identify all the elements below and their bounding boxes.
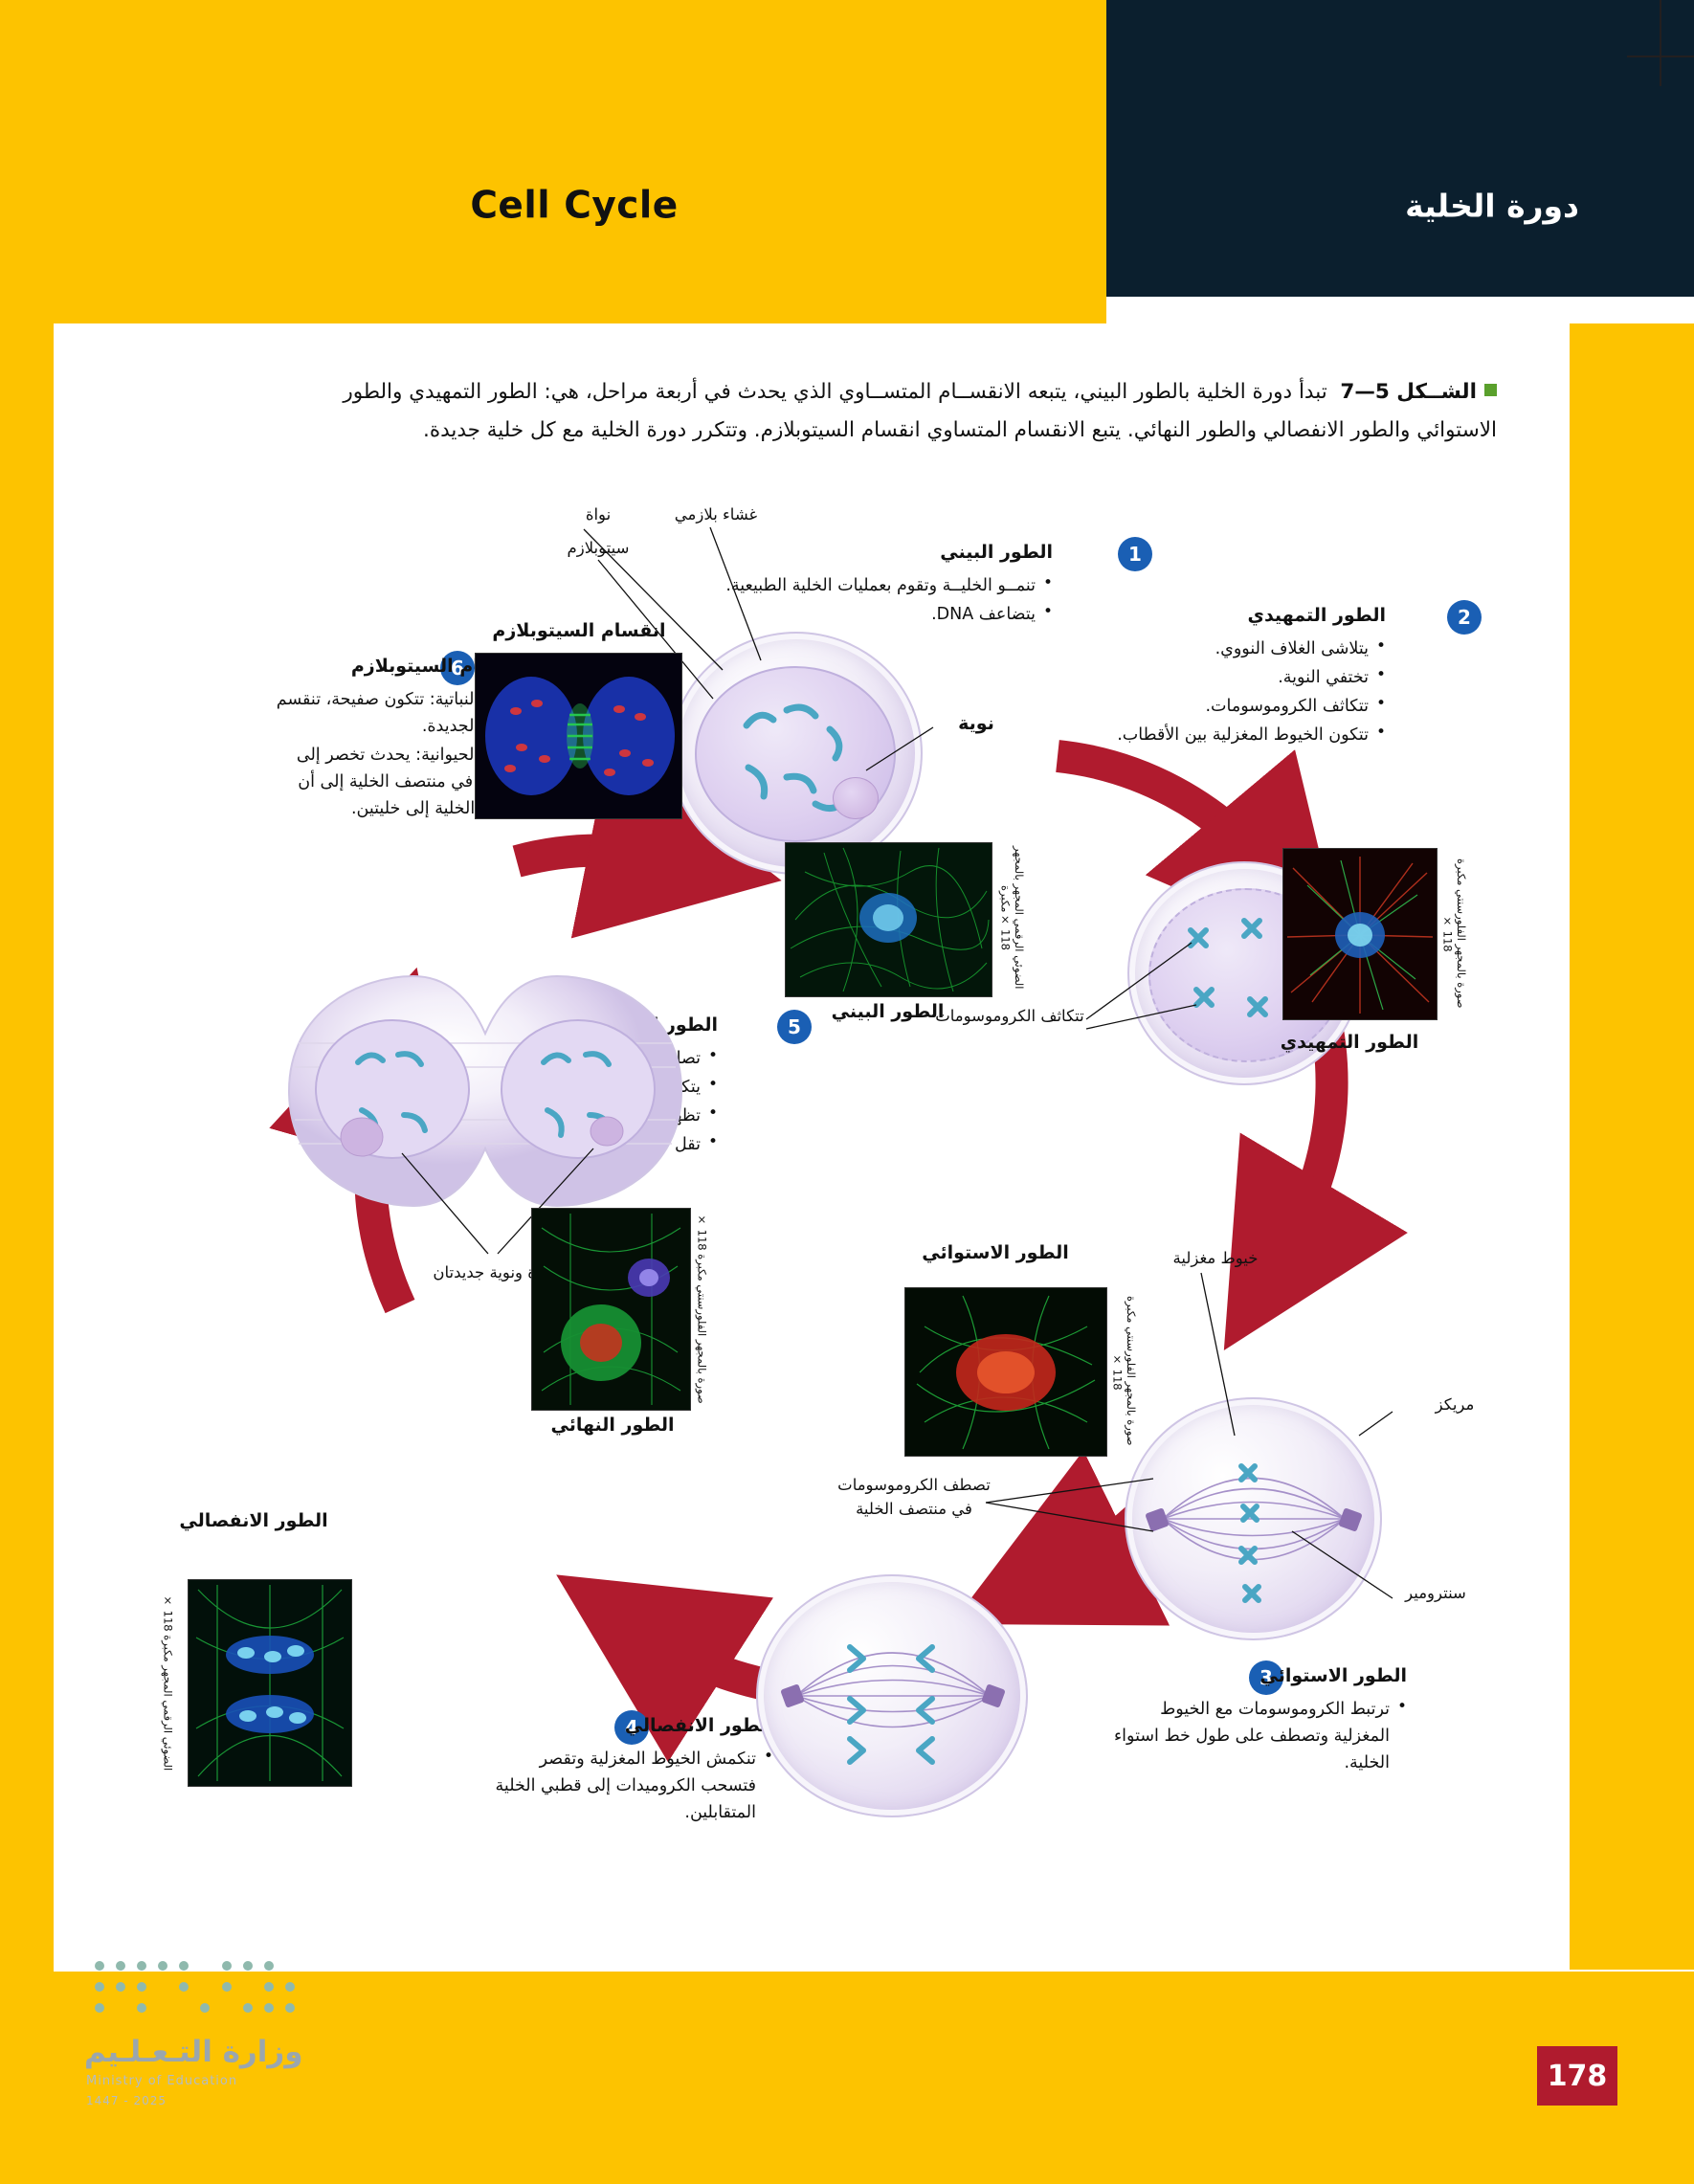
figure-caption-text: تبدأ دورة الخلية بالطور البيني، يتبعه ال… bbox=[343, 380, 1497, 442]
stage-badge-2[interactable]: 2 bbox=[1447, 600, 1482, 635]
micrograph-prophase bbox=[1282, 848, 1438, 1020]
figure-caption-label: الشــكل 5—7 bbox=[1340, 380, 1477, 404]
stage-title-1: الطور البيني bbox=[833, 538, 1053, 567]
stage-bullets-4: تنكمش الخيوط المغزلية وتقصر فتسحب الكروم… bbox=[486, 1746, 773, 1828]
list-item: تتكاثف الكروموسومات. bbox=[1070, 693, 1386, 720]
micrograph-title-cytokinesis: انقسام السيتوبلازم bbox=[459, 620, 699, 641]
stage-title-3: الطور الاستوائي bbox=[1187, 1661, 1407, 1690]
stage-badge-1[interactable]: 1 bbox=[1118, 537, 1152, 571]
micrograph-interphase bbox=[785, 842, 992, 997]
ministry-year: 2025 - 1447 bbox=[86, 2094, 167, 2107]
micrograph-caption-prophase: صورة بالمجهر الفلورسنتي مكبرة 118 × bbox=[1440, 848, 1468, 1018]
micrograph-caption-metaphase: صورة بالمجهر الفلورسنتي مكبرة 118 × bbox=[1110, 1287, 1138, 1455]
cell-telophase bbox=[270, 967, 701, 1215]
list-item: ترتبط الكروموسومات مع الخيوط المغزلية وت… bbox=[1101, 1696, 1407, 1776]
spindle-metaphase bbox=[1126, 1399, 1380, 1638]
caption-text: صورة بالمجهر الفلورسنتي مكبرة 118 × bbox=[695, 1213, 708, 1404]
callout-centriole: مريكز bbox=[1397, 1395, 1512, 1414]
list-item: تنمــو الخليــة وتقوم بعمليات الخلية الط… bbox=[680, 572, 1053, 599]
micrograph-anaphase bbox=[188, 1579, 352, 1787]
cell-anaphase bbox=[756, 1574, 1028, 1817]
caption-text: صورة بالمجهر الفلورسنتي مكبرة 118 × bbox=[1440, 858, 1467, 1009]
micrograph-title-metaphase: الطور الاستوائي bbox=[880, 1242, 1110, 1263]
ministry-name-arabic: وزارة التـعـلـيم bbox=[84, 2035, 303, 2069]
page-left-bar bbox=[0, 0, 54, 2184]
spindle-anaphase bbox=[758, 1576, 1026, 1816]
list-item: تنكمش الخيوط المغزلية وتقصر فتسحب الكروم… bbox=[486, 1746, 773, 1826]
callout-align-mid: تصطف الكروموسومات في منتصف الخلية bbox=[833, 1474, 995, 1522]
ministry-name-english: Ministry of Education bbox=[86, 2074, 237, 2088]
micrograph-title-anaphase: الطور الانفصالي bbox=[134, 1510, 373, 1531]
cell-metaphase bbox=[1125, 1397, 1382, 1640]
crop-mark-horizontal bbox=[1627, 56, 1694, 57]
nucleolus-interphase bbox=[833, 777, 879, 819]
stage-title-2: الطور التمهيدي bbox=[1185, 601, 1386, 630]
list-item: تختفي النوية. bbox=[1070, 664, 1386, 691]
ministry-logo-dots bbox=[88, 1954, 308, 2021]
stage-badge-5[interactable]: 5 bbox=[777, 1010, 812, 1044]
micrograph-caption-interphase: الضوئي الرقمي المجهر بالمجهر 118 ×مكبرة bbox=[998, 842, 1026, 993]
crop-mark-vertical bbox=[1660, 0, 1661, 86]
micrograph-cytokinesis bbox=[475, 653, 682, 819]
callout-chromosome-condense: تتكاثف الكروموسومات bbox=[933, 1005, 1086, 1029]
stage-bullets-3: ترتبط الكروموسومات مع الخيوط المغزلية وت… bbox=[1101, 1696, 1407, 1778]
header-navy-box bbox=[1106, 0, 1694, 297]
page-number: 178 bbox=[1537, 2046, 1617, 2106]
page-title-english: Cell Cycle bbox=[470, 185, 678, 228]
caption-text: صورة بالمجهر الفلورسنتي مكبرة 118 × bbox=[1110, 1296, 1137, 1446]
caption-bullet-square bbox=[1484, 384, 1497, 396]
stage-title-4: الطور الانفصالي bbox=[553, 1711, 773, 1740]
figure-caption: الشــكل 5—7 تبدأ دورة الخلية بالطور البي… bbox=[310, 373, 1497, 450]
callout-nucleolus: نوية bbox=[933, 713, 1019, 734]
cell-interphase bbox=[670, 632, 923, 875]
micrograph-caption-telophase: صورة بالمجهر الفلورسنتي مكبرة 118 × bbox=[695, 1208, 708, 1409]
micrograph-title-telophase: الطور النهائي bbox=[498, 1415, 727, 1436]
list-item: تتكون الخيوط المغزلية بين الأقطاب. bbox=[1070, 722, 1386, 748]
callout-centromere: سنترومير bbox=[1359, 1584, 1512, 1602]
callout-cytoplasm: سيتوبلازم bbox=[536, 539, 660, 557]
micrograph-telophase bbox=[531, 1208, 691, 1411]
list-item: يتضاعف DNA. bbox=[680, 601, 1053, 628]
callout-plasma-membrane: غشاء بلازمي bbox=[639, 505, 792, 524]
chromatin-threads bbox=[672, 634, 921, 873]
caption-text: الضوئي الرقمي المجهر بالمجهر 118 ×مكبرة bbox=[998, 846, 1025, 989]
stage-bullets-2: يتلاشى الغلاف النووي. تختفي النوية. تتكا… bbox=[1070, 635, 1386, 750]
stage-bullets-1: تنمــو الخليــة وتقوم بعمليات الخلية الط… bbox=[680, 572, 1053, 630]
micrograph-metaphase bbox=[904, 1287, 1107, 1457]
page-title-arabic: دورة الخلية bbox=[1405, 188, 1579, 225]
page-right-bar bbox=[1570, 323, 1694, 1970]
list-item: يتلاشى الغلاف النووي. bbox=[1070, 635, 1386, 662]
callout-spindle-fibers: خيوط مغزلية bbox=[1139, 1249, 1292, 1267]
micrograph-title-prophase: الطور التمهيدي bbox=[1244, 1032, 1455, 1053]
header-yellow-band bbox=[54, 0, 1106, 323]
callout-nucleus: نواة bbox=[536, 505, 660, 524]
caption-text: الضوئي الرقمي المجهر مكبرة 118 × bbox=[161, 1593, 174, 1771]
micrograph-caption-anaphase: الضوئي الرقمي المجهر مكبرة 118 × bbox=[161, 1579, 174, 1785]
